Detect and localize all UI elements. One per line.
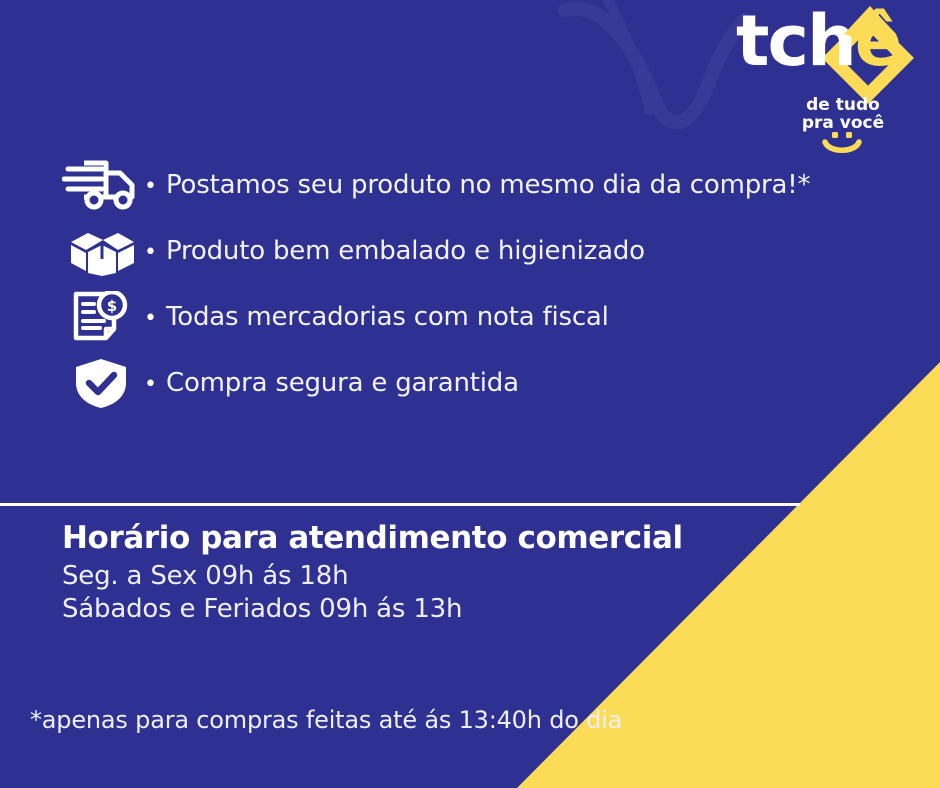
feature-bullet-icon: • [144,176,157,198]
footnote-text: *apenas para compras feitas até ás 13:40… [30,706,622,734]
feature-label: Produto bem embalado e higienizado [166,236,645,266]
feature-bullet-icon: • [144,308,157,330]
feature-list: • Postamos seu produto no mesmo dia da c… [62,152,862,416]
open-box-icon [62,225,144,277]
feature-item-packaging: • Produto bem embalado e higienizado [62,218,862,284]
logo-tagline: de tudo pra você [778,96,908,133]
smiley-face-icon [819,132,865,154]
logo-tagline-line1: de tudo [778,96,908,114]
logo-tagline-line2: pra você [778,114,908,132]
business-hours-weekday: Seg. a Sex 09h ás 18h [62,560,762,593]
invoice-dollar-icon: $ [62,291,144,343]
svg-text:$: $ [107,297,117,315]
feature-item-security: • Compra segura e garantida [62,350,862,416]
promo-banner: tchê de tudo pra você [0,0,940,788]
circumflex-caret-icon [844,6,896,38]
feature-label: Todas mercadorias com nota fiscal [166,302,609,332]
feature-label: Compra segura e garantida [166,368,519,398]
brand-logo: tchê de tudo pra você [722,4,922,144]
logo-wordmark-main: tch [736,0,855,82]
shield-check-icon [62,357,144,409]
feature-bullet-icon: • [144,242,157,264]
business-hours-weekend: Sábados e Feriados 09h ás 13h [62,593,762,626]
feature-item-invoice: $ • Todas mercadorias com nota fiscal [62,284,862,350]
feature-item-shipping: • Postamos seu produto no mesmo dia da c… [62,152,862,218]
feature-bullet-icon: • [144,374,157,396]
feature-label: Postamos seu produto no mesmo dia da com… [166,170,810,200]
section-divider [0,503,800,506]
business-hours-section: Horário para atendimento comercial Seg. … [62,520,762,625]
business-hours-title: Horário para atendimento comercial [62,520,762,558]
delivery-truck-icon [62,159,144,211]
